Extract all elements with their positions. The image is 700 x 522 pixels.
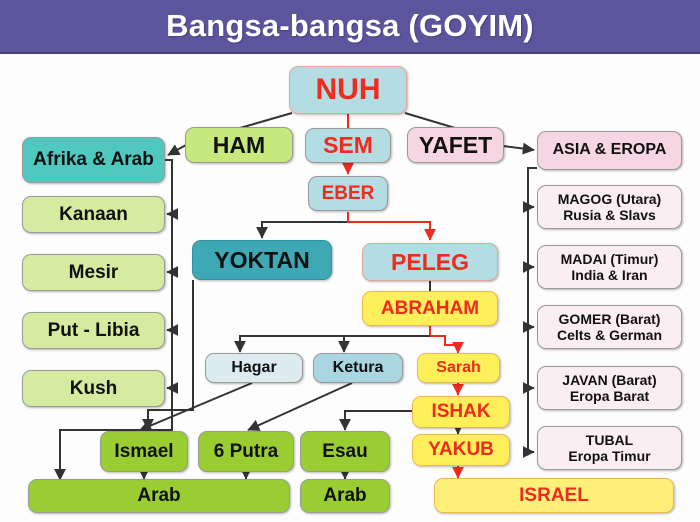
node-yakub[interactable]: YAKUB [412, 434, 510, 466]
node-abraham-label: ABRAHAM [366, 299, 494, 319]
node-sarah-label: Sarah [421, 360, 496, 377]
node-arab-left[interactable]: Arab [28, 479, 290, 513]
node-javan-line2: Eropa Barat [541, 388, 678, 404]
node-kush[interactable]: Kush [22, 370, 165, 407]
node-yafet-label: YAFET [411, 133, 500, 157]
node-mesir[interactable]: Mesir [22, 254, 165, 291]
node-gomer-line2: Celts & German [541, 327, 678, 343]
node-afrika-arab[interactable]: Afrika & Arab [22, 137, 165, 183]
node-ketura[interactable]: Ketura [313, 353, 403, 383]
node-kanaan[interactable]: Kanaan [22, 196, 165, 233]
node-esau[interactable]: Esau [300, 431, 390, 472]
node-6-putra-label: 6 Putra [202, 442, 290, 462]
node-kanaan-label: Kanaan [26, 205, 161, 225]
node-asia-eropa[interactable]: ASIA & EROPA [537, 131, 682, 170]
node-tubal-line2: Eropa Timur [541, 448, 678, 464]
node-ismael[interactable]: Ismael [100, 431, 188, 472]
node-yakub-label: YAKUB [416, 440, 506, 460]
node-put-libia-label: Put - Libia [26, 321, 161, 341]
node-peleg[interactable]: PELEG [362, 243, 498, 281]
node-magog[interactable]: MAGOG (Utara) Rusia & Slavs [537, 185, 682, 229]
diagram-canvas: Bangsa-bangsa (GOYIM) [0, 0, 700, 522]
node-ham[interactable]: HAM [185, 127, 293, 163]
node-arab-right[interactable]: Arab [300, 479, 390, 513]
node-hagar-label: Hagar [209, 360, 299, 377]
node-yafet[interactable]: YAFET [407, 127, 504, 163]
node-kush-label: Kush [26, 379, 161, 399]
node-ishak[interactable]: ISHAK [412, 396, 510, 428]
node-israel[interactable]: ISRAEL [434, 478, 674, 513]
node-ismael-label: Ismael [104, 442, 184, 462]
node-javan[interactable]: JAVAN (Barat) Eropa Barat [537, 366, 682, 410]
node-gomer[interactable]: GOMER (Barat) Celts & German [537, 305, 682, 349]
node-esau-label: Esau [304, 442, 386, 462]
node-ketura-label: Ketura [317, 360, 399, 377]
node-eber-label: EBER [312, 184, 384, 204]
node-put-libia[interactable]: Put - Libia [22, 312, 165, 349]
node-peleg-label: PELEG [366, 250, 494, 274]
node-mesir-label: Mesir [26, 263, 161, 283]
node-tubal-line1: TUBAL [541, 432, 678, 448]
node-afrika-arab-label: Afrika & Arab [26, 150, 161, 170]
node-yoktan-label: YOKTAN [196, 248, 328, 272]
node-madai[interactable]: MADAI (Timur) India & Iran [537, 245, 682, 289]
node-arab-left-label: Arab [32, 486, 286, 506]
node-ishak-label: ISHAK [416, 402, 506, 422]
node-abraham[interactable]: ABRAHAM [362, 291, 498, 326]
node-madai-line2: India & Iran [541, 267, 678, 283]
node-israel-label: ISRAEL [438, 486, 670, 506]
node-yoktan[interactable]: YOKTAN [192, 240, 332, 280]
node-ham-label: HAM [189, 133, 289, 157]
node-javan-line1: JAVAN (Barat) [541, 372, 678, 388]
node-hagar[interactable]: Hagar [205, 353, 303, 383]
node-madai-line1: MADAI (Timur) [541, 251, 678, 267]
node-6-putra[interactable]: 6 Putra [198, 431, 294, 472]
node-tubal[interactable]: TUBAL Eropa Timur [537, 426, 682, 470]
node-nuh-label: NUH [293, 74, 403, 106]
node-nuh[interactable]: NUH [289, 66, 407, 114]
node-sem[interactable]: SEM [305, 128, 391, 163]
node-asia-eropa-label: ASIA & EROPA [541, 142, 678, 159]
node-sem-label: SEM [309, 133, 387, 157]
node-arab-right-label: Arab [304, 486, 386, 506]
node-gomer-line1: GOMER (Barat) [541, 311, 678, 327]
node-sarah[interactable]: Sarah [417, 353, 500, 383]
node-magog-line1: MAGOG (Utara) [541, 191, 678, 207]
node-magog-line2: Rusia & Slavs [541, 207, 678, 223]
node-eber[interactable]: EBER [308, 176, 388, 211]
